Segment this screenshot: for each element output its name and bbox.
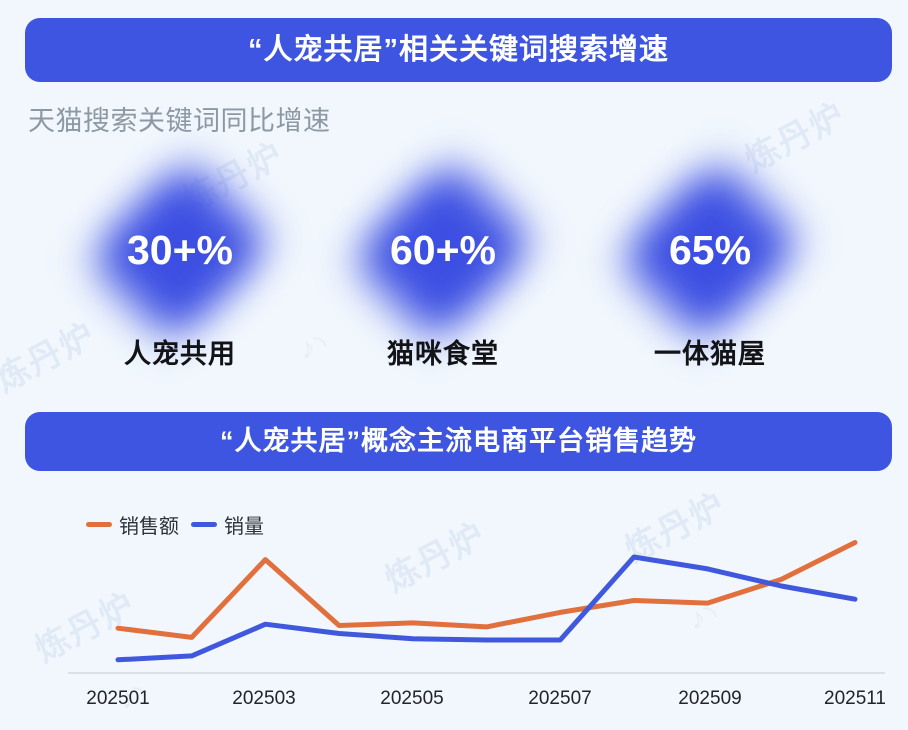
- stat-card-1: 30+% 人宠共用: [45, 150, 315, 380]
- x-axis-tick-label: 202503: [232, 688, 295, 710]
- legend-swatch-sales: [86, 522, 112, 527]
- x-axis-tick-label: 202511: [824, 688, 886, 710]
- stat-value: 60+%: [343, 158, 543, 343]
- chart-legend: 销售额 销量: [86, 510, 264, 539]
- stat-value: 65%: [610, 158, 810, 343]
- stat-blob-row: 30+% 人宠共用 60+% 猫咪食堂 65% 一体猫屋: [0, 150, 908, 380]
- x-axis-tick-label: 202507: [528, 688, 591, 710]
- blob-shape-3: 65%: [610, 158, 810, 343]
- x-axis-tick-label: 202501: [86, 688, 149, 710]
- stat-label: 一体猫屋: [575, 332, 845, 371]
- x-axis-tick-label: 202505: [380, 688, 443, 710]
- stat-card-2: 60+% 猫咪食堂: [308, 150, 578, 380]
- blob-shape-2: 60+%: [343, 158, 543, 343]
- stat-label: 猫咪食堂: [308, 332, 578, 371]
- legend-label-volume: 销量: [224, 510, 264, 539]
- section-title-banner: “人宠共居”概念主流电商平台销售趋势: [25, 412, 892, 471]
- stat-value: 30+%: [80, 158, 280, 343]
- section-title: “人宠共居”概念主流电商平台销售趋势: [220, 428, 697, 455]
- x-axis-tick-label: 202509: [678, 688, 741, 710]
- blob-shape-1: 30+%: [80, 158, 280, 343]
- legend-item-volume[interactable]: 销量: [191, 510, 264, 539]
- chart-series-line-volume: [118, 557, 855, 660]
- chart-series-line-sales: [118, 543, 855, 638]
- subtitle: 天猫搜索关键词同比增速: [28, 99, 331, 138]
- legend-item-sales[interactable]: 销售额: [86, 510, 179, 539]
- sales-trend-line-chart: [0, 520, 908, 680]
- legend-label-sales: 销售额: [119, 510, 179, 539]
- page-title: “人宠共居”相关关键词搜索增速: [248, 36, 669, 65]
- infographic-root: 炼丹炉 炼丹炉 炼丹炉 炼丹炉 炼丹炉 炼丹炉 ♪◝ ♪◝ ♪◝ “人宠共居”相…: [0, 0, 908, 730]
- chart-svg: [0, 520, 908, 680]
- legend-swatch-volume: [191, 522, 217, 527]
- stat-card-3: 65% 一体猫屋: [575, 150, 845, 380]
- main-title-banner: “人宠共居”相关关键词搜索增速: [25, 18, 892, 82]
- stat-label: 人宠共用: [45, 332, 315, 371]
- chart-x-axis: 202501202503202505202507202509202511: [0, 688, 908, 718]
